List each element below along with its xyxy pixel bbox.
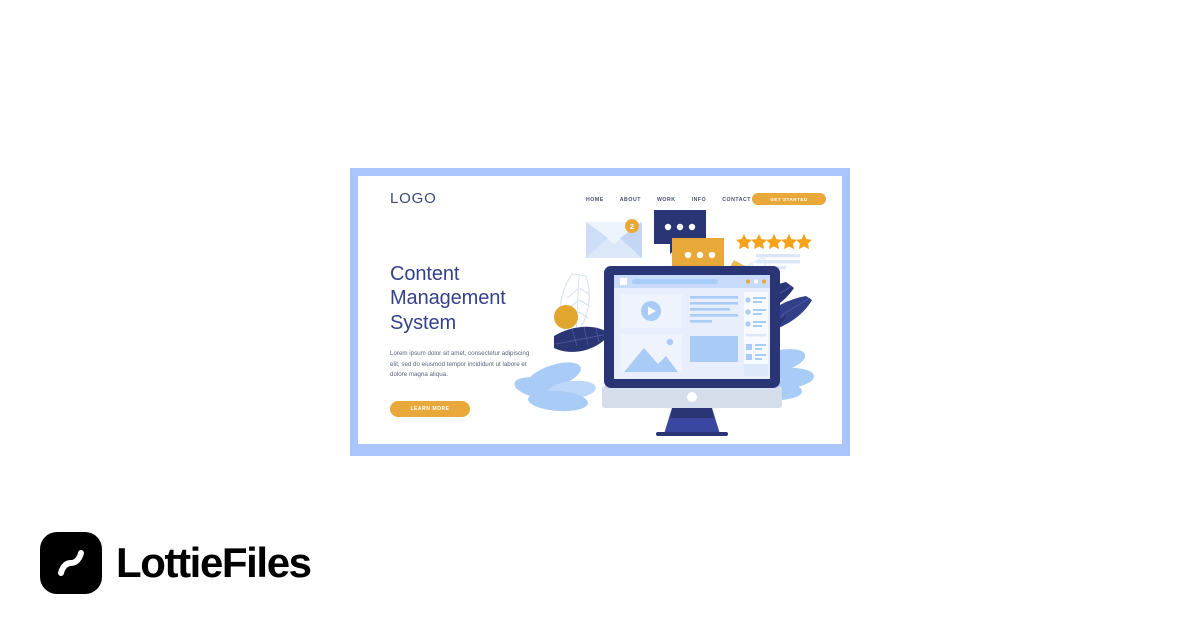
screen-topbar-searchbar xyxy=(632,279,718,284)
main-nav: HOME ABOUT WORK INFO CONTACT xyxy=(586,197,751,203)
get-started-label: GET STARTED xyxy=(770,197,808,202)
learn-more-button[interactable]: LEARN MORE xyxy=(390,401,470,417)
nav-item-info[interactable]: INFO xyxy=(692,197,707,203)
nav-item-work[interactable]: WORK xyxy=(657,197,676,203)
lottiefiles-wordmark: LottieFiles xyxy=(116,539,311,587)
monitor-power-dot xyxy=(687,392,697,402)
nav-item-contact[interactable]: CONTACT xyxy=(722,197,751,203)
screen-topbar-dot-3 xyxy=(762,279,766,283)
nav-item-about[interactable]: ABOUT xyxy=(620,197,641,203)
screen-block-card xyxy=(690,336,738,362)
get-started-button[interactable]: GET STARTED xyxy=(752,193,826,205)
screen-image-card xyxy=(620,334,682,372)
learn-more-label: LEARN MORE xyxy=(410,406,449,412)
lottiefiles-mark-icon xyxy=(40,532,102,594)
hero-title: Content Management System xyxy=(390,262,570,335)
hero-paragraph: Lorem ipsum dolor sit amet, consectetur … xyxy=(390,349,538,381)
screen-topbar-dot-1 xyxy=(746,279,750,283)
landing-page-card: 2 xyxy=(350,168,850,456)
screen-topbar-dot-2 xyxy=(754,279,758,283)
screen-video-card xyxy=(620,294,682,328)
screen-topbar-logo xyxy=(620,278,627,285)
screen-sidebar xyxy=(744,292,768,376)
star-rating xyxy=(736,234,812,249)
site-logo[interactable]: LOGO xyxy=(390,190,437,207)
hero-section: Content Management System Lorem ipsum do… xyxy=(390,262,570,417)
landing-page-canvas: 2 xyxy=(358,176,842,444)
nav-item-home[interactable]: HOME xyxy=(586,197,604,203)
desktop-monitor xyxy=(602,266,782,436)
lottiefiles-logo: LottieFiles xyxy=(40,532,311,594)
site-header: LOGO HOME ABOUT WORK INFO CONTACT GET ST… xyxy=(358,176,842,226)
